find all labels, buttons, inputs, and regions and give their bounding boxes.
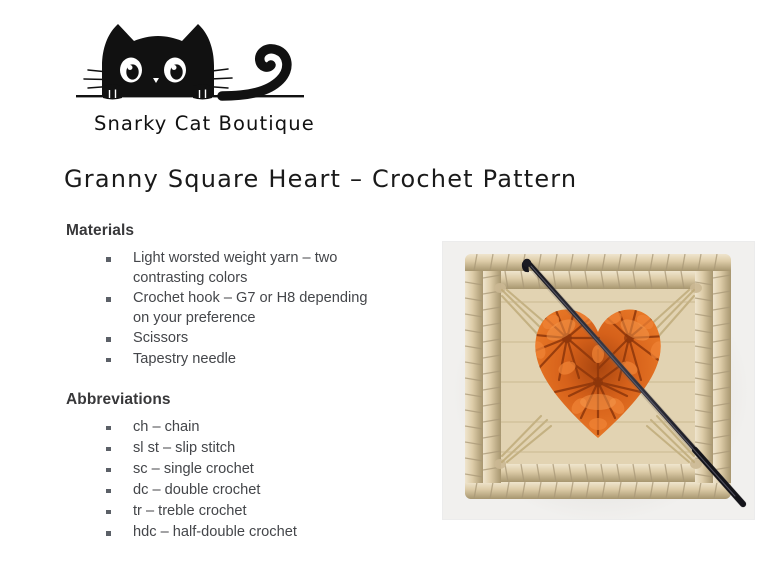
materials-list: Light worsted weight yarn – two contrast… — [66, 249, 386, 370]
granny-square-heart-photo — [443, 242, 754, 519]
list-item: Tapestry needle — [106, 350, 386, 370]
abbreviations-heading: Abbreviations — [66, 391, 386, 409]
list-item: dc – double crochet — [106, 481, 386, 501]
list-item: Crochet hook – G7 or H8 depending on you… — [106, 289, 386, 328]
peeking-black-cat-icon — [72, 8, 332, 108]
list-item: ch – chain — [106, 418, 386, 438]
granny-square-illustration — [443, 242, 754, 519]
brand-logo: Snarky Cat Boutique — [72, 8, 372, 148]
brand-wordmark: Snarky Cat Boutique — [94, 112, 354, 135]
pattern-text-column: Materials Light worsted weight yarn – tw… — [66, 222, 386, 544]
list-item: tr – treble crochet — [106, 502, 386, 522]
abbreviations-list: ch – chain sl st – slip stitch sc – sing… — [66, 418, 386, 543]
abbreviations-section: Abbreviations ch – chain sl st – slip st… — [66, 391, 386, 543]
materials-heading: Materials — [66, 222, 386, 240]
list-item: hdc – half-double crochet — [106, 523, 386, 543]
list-item: Scissors — [106, 329, 386, 349]
page-title: Granny Square Heart – Crochet Pattern — [64, 165, 577, 193]
list-item: sc – single crochet — [106, 460, 386, 480]
list-item: Light worsted weight yarn – two contrast… — [106, 249, 386, 288]
materials-section: Materials Light worsted weight yarn – tw… — [66, 222, 386, 370]
list-item: sl st – slip stitch — [106, 439, 386, 459]
